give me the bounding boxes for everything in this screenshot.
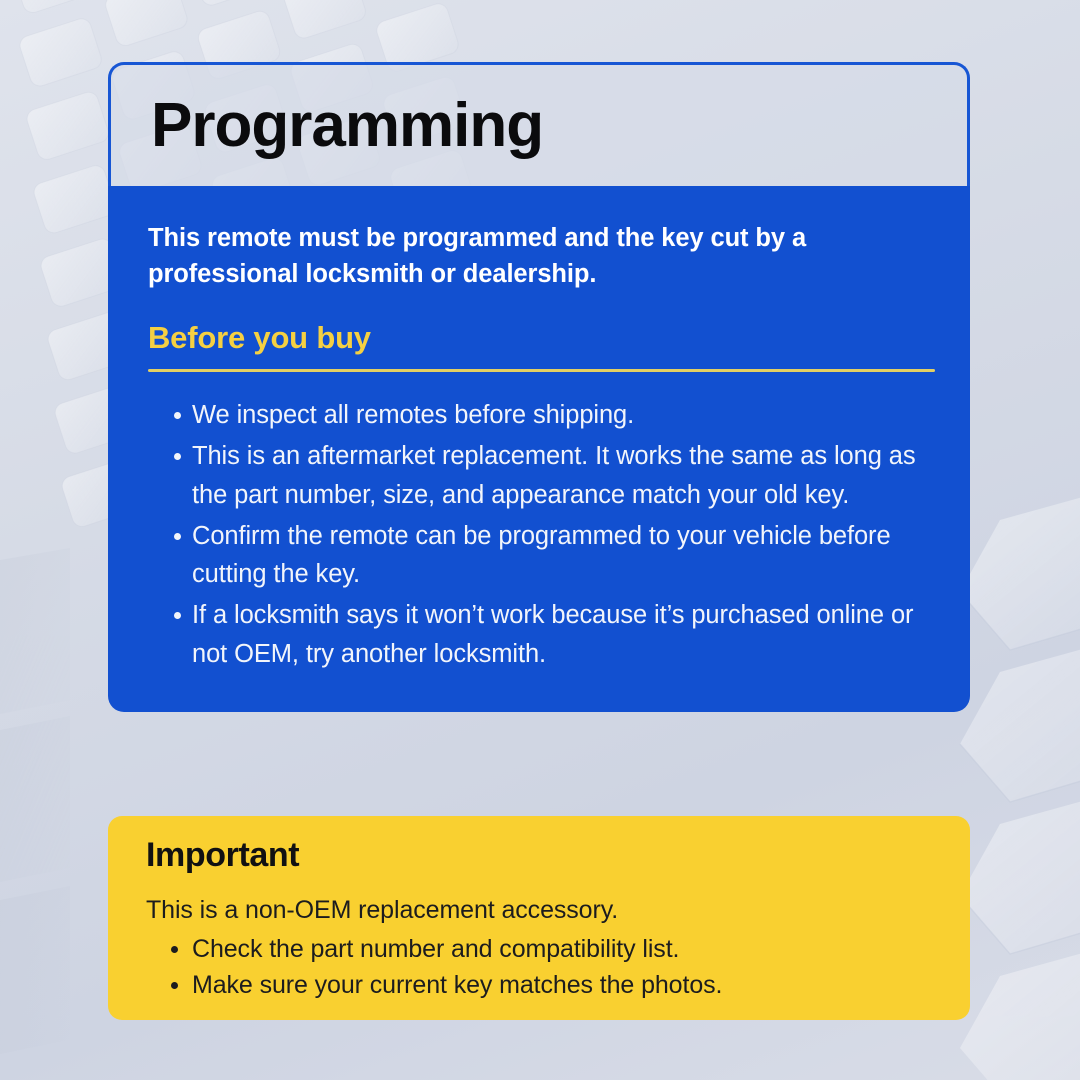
programming-notice-text: This remote must be programmed and the k… — [148, 220, 918, 292]
programming-card: Programming This remote must be programm… — [108, 62, 970, 712]
list-item: We inspect all remotes before shipping. — [148, 396, 930, 435]
heading-divider — [148, 369, 935, 372]
list-item: This is an aftermarket replacement. It w… — [148, 437, 930, 515]
important-card: Important This is a non-OEM replacement … — [108, 816, 970, 1020]
page-title: Programming — [151, 95, 543, 157]
list-item: Make sure your current key matches the p… — [146, 967, 932, 1003]
list-item: Check the part number and compatibility … — [146, 931, 932, 967]
important-list: Check the part number and compatibility … — [146, 931, 932, 1003]
list-item: Confirm the remote can be programmed to … — [148, 517, 930, 595]
list-item: If a locksmith says it won’t work becaus… — [148, 596, 930, 674]
important-title: Important — [146, 838, 932, 872]
card-header: Programming — [108, 62, 970, 186]
card-body: This remote must be programmed and the k… — [108, 186, 970, 712]
before-you-buy-heading: Before you buy — [148, 322, 930, 353]
before-you-buy-list: We inspect all remotes before shipping. … — [148, 396, 930, 673]
important-notice-text: This is a non-OEM replacement accessory. — [146, 894, 932, 927]
